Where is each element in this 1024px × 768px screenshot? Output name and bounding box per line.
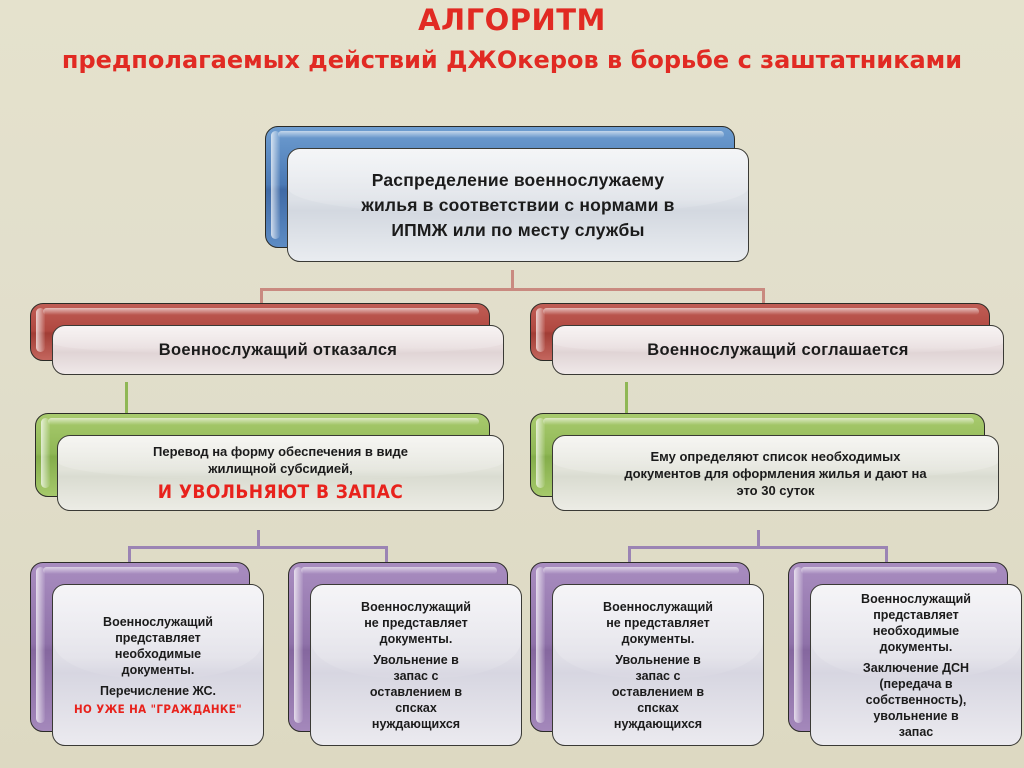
node-level3-subsidy-line1: Перевод на форму обеспечения в виде bbox=[153, 444, 408, 459]
node-leaf-1-stamp: НО УЖЕ НА "ГРАЖДАНКЕ" bbox=[65, 699, 251, 717]
node-leaf-2-line2: не представляет bbox=[364, 616, 468, 630]
node-leaf-3-line1: Военнослужащий bbox=[603, 600, 713, 614]
node-leaf-2-line1: Военнослужащий bbox=[361, 600, 471, 614]
node-level2-agreed[interactable]: Военнослужащий соглашается bbox=[530, 303, 990, 361]
node-level3-documents[interactable]: Ему определяют список необходимых докуме… bbox=[530, 413, 985, 497]
node-level3-subsidy-card: Перевод на форму обеспечения в виде жили… bbox=[57, 435, 504, 511]
diagram-canvas: АЛГОРИТМ предполагаемых действий ДЖОкеро… bbox=[0, 0, 1024, 768]
node-leaf-3-line4: Увольнение в bbox=[615, 653, 701, 667]
node-leaf-3-line6: оставлением в bbox=[612, 685, 704, 699]
title-block: АЛГОРИТМ предполагаемых действий ДЖОкеро… bbox=[0, 0, 1024, 76]
node-level3-subsidy[interactable]: Перевод на форму обеспечения в виде жили… bbox=[35, 413, 490, 497]
node-leaf-4-line4: документы. bbox=[880, 640, 953, 654]
node-leaf-1-line3: необходимые bbox=[115, 647, 201, 661]
node-leaf-3-line2: не представляет bbox=[606, 616, 710, 630]
node-leaf-4-line5: Заключение ДСН bbox=[863, 661, 969, 675]
connector-level2-to-level3-right bbox=[625, 382, 628, 414]
node-leaf-2-line7: спсках bbox=[395, 701, 437, 715]
node-leaf-4-line7: собственность), bbox=[866, 693, 967, 707]
node-level3-documents-line2: документов для оформления жилья и дают н… bbox=[624, 466, 926, 481]
node-leaf-4[interactable]: Военнослужащий представляет необходимые … bbox=[788, 562, 1008, 732]
node-leaf-4-line9: запас bbox=[899, 725, 933, 739]
node-leaf-2-card: Военнослужащий не представляет документы… bbox=[310, 584, 522, 746]
connector-level2-to-level3-left bbox=[125, 382, 128, 414]
connector-root-stem bbox=[511, 270, 514, 290]
node-leaf-3-line7: спсках bbox=[637, 701, 679, 715]
node-leaf-2-spacer bbox=[323, 647, 509, 652]
node-leaf-3-card: Военнослужащий не представляет документы… bbox=[552, 584, 764, 746]
node-level3-subsidy-line2: жилищной субсидией, bbox=[208, 461, 352, 476]
node-leaf-4-spacer bbox=[823, 655, 1009, 660]
node-leaf-4-line3: необходимые bbox=[873, 624, 959, 638]
node-leaf-2-line6: оставлением в bbox=[370, 685, 462, 699]
node-leaf-3-line8: нуждающихся bbox=[614, 717, 702, 731]
node-leaf-2-line5: запас с bbox=[394, 669, 439, 683]
node-level3-documents-line3: это 30 суток bbox=[736, 483, 814, 498]
connector-level3-right-bus bbox=[628, 546, 888, 549]
node-leaf-2-line4: Увольнение в bbox=[373, 653, 459, 667]
node-leaf-1[interactable]: Военнослужащий представляет необходимые … bbox=[30, 562, 250, 732]
node-leaf-2-line8: нуждающихся bbox=[372, 717, 460, 731]
node-level2-refused[interactable]: Военнослужащий отказался bbox=[30, 303, 490, 361]
node-leaf-4-card: Военнослужащий представляет необходимые … bbox=[810, 584, 1022, 746]
node-leaf-2-line3: документы. bbox=[380, 632, 453, 646]
node-root-card: Распределение военнослужаемy жилья в соо… bbox=[287, 148, 749, 262]
page-subtitle: предполагаемых действий ДЖОкеров в борьб… bbox=[0, 37, 1024, 76]
node-leaf-1-spacer bbox=[65, 678, 251, 683]
node-leaf-1-line2: представляет bbox=[115, 631, 201, 645]
node-leaf-3[interactable]: Военнослужащий не представляет документы… bbox=[530, 562, 750, 732]
connector-level3-left-bus bbox=[128, 546, 388, 549]
node-leaf-3-spacer bbox=[565, 647, 751, 652]
page-title: АЛГОРИТМ bbox=[0, 0, 1024, 37]
connector-root-bus bbox=[260, 288, 765, 291]
node-leaf-2[interactable]: Военнослужащий не представляет документы… bbox=[288, 562, 508, 732]
node-leaf-4-line1: Военнослужащий bbox=[861, 592, 971, 606]
node-root-line2: жилья в соответствии с нормами в bbox=[361, 195, 674, 215]
node-leaf-3-line5: запас с bbox=[636, 669, 681, 683]
node-root-line1: Распределение военнослужаемy bbox=[372, 170, 665, 190]
node-leaf-1-line1: Военнослужащий bbox=[103, 615, 213, 629]
node-level3-documents-line1: Ему определяют список необходимых bbox=[651, 449, 901, 464]
node-leaf-4-line8: увольнение в bbox=[873, 709, 958, 723]
node-leaf-4-line2: представляет bbox=[873, 608, 959, 622]
node-level2-refused-label: Военнослужащий отказался bbox=[65, 341, 491, 360]
node-leaf-1-line5: Перечисление ЖС. bbox=[100, 684, 216, 698]
node-leaf-1-card: Военнослужащий представляет необходимые … bbox=[52, 584, 264, 746]
node-level3-subsidy-stamp: И УВОЛЬНЯЮТ В ЗАПАС bbox=[70, 477, 491, 504]
node-leaf-4-line6: (передача в bbox=[879, 677, 952, 691]
node-root-line3: ИПМЖ или по месту службы bbox=[391, 220, 644, 240]
node-leaf-1-line4: документы. bbox=[122, 663, 195, 677]
node-level3-documents-card: Ему определяют список необходимых докуме… bbox=[552, 435, 999, 511]
node-level2-agreed-card: Военнослужащий соглашается bbox=[552, 325, 1004, 375]
node-root[interactable]: Распределение военнослужаемy жилья в соо… bbox=[265, 126, 735, 248]
node-level2-refused-card: Военнослужащий отказался bbox=[52, 325, 504, 375]
node-level2-agreed-label: Военнослужащий соглашается bbox=[565, 341, 991, 360]
node-leaf-3-line3: документы. bbox=[622, 632, 695, 646]
